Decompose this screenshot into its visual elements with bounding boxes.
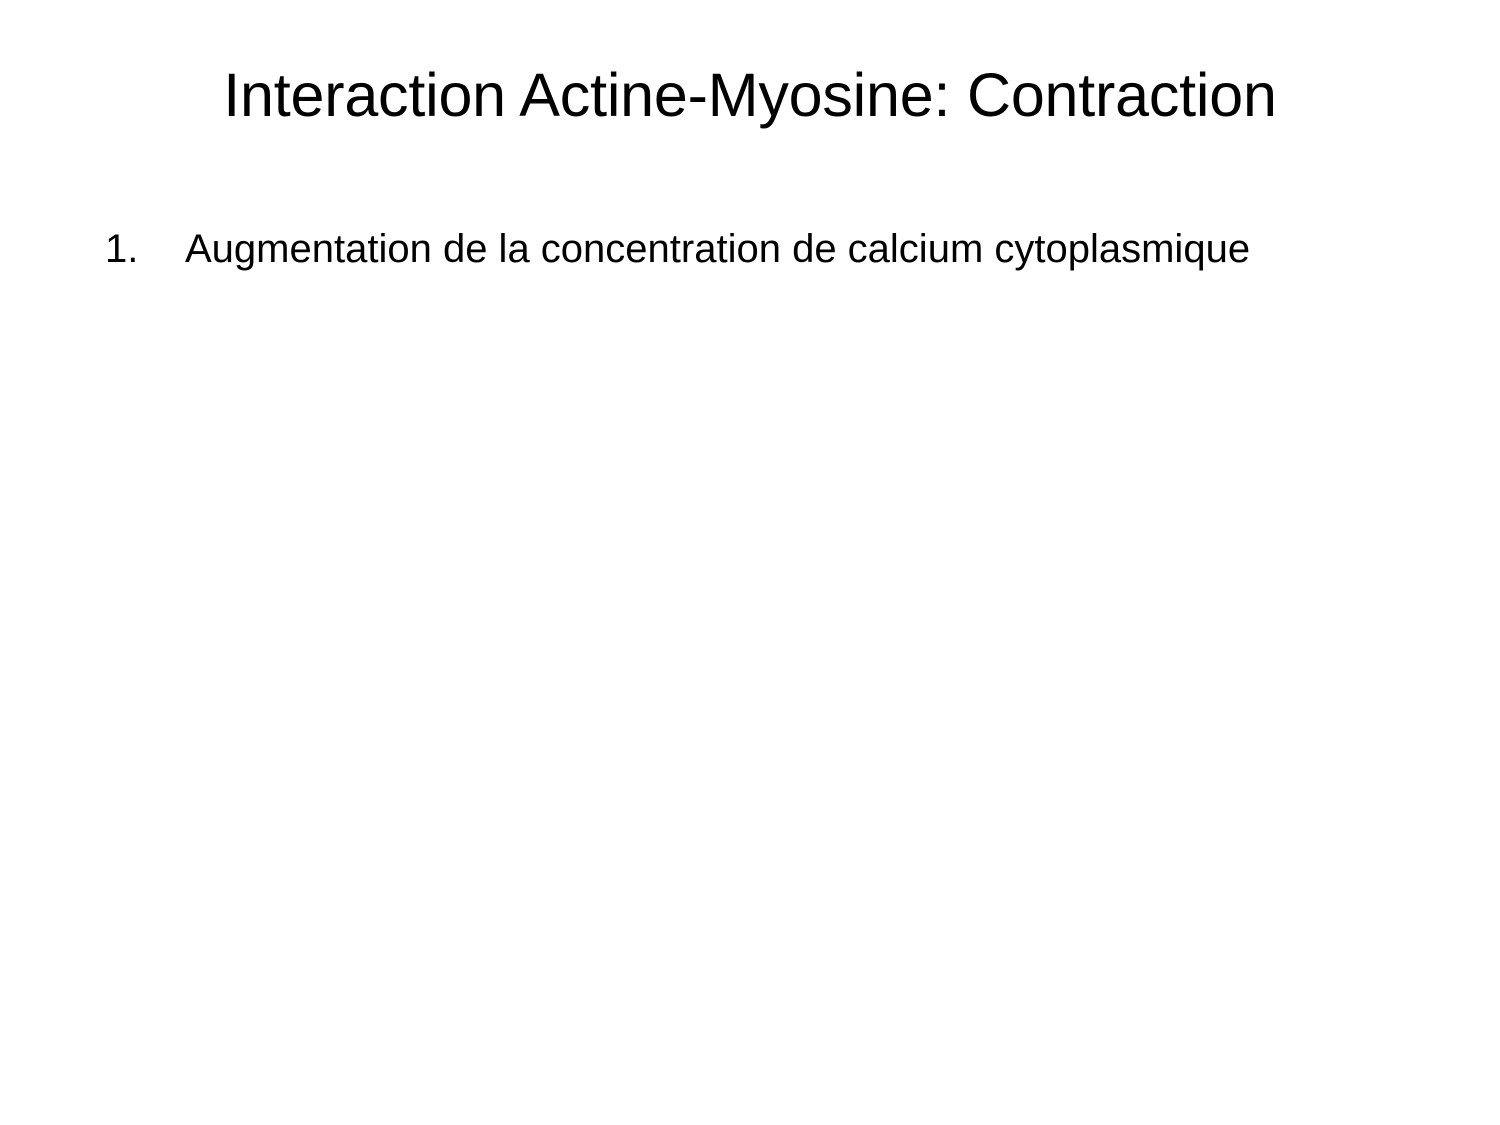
slide-body-placeholder: 1. Augmentation de la concentration de c… [97,225,1403,1055]
list-item: 1. Augmentation de la concentration de c… [97,225,1403,274]
list-item-label: Augmentation de la concentration de calc… [185,227,1250,271]
slide-title: Interaction Actine-Myosine: Contraction [223,63,1276,127]
list-item-marker: 1. [105,225,173,274]
slide-title-placeholder: Interaction Actine-Myosine: Contraction [112,40,1388,150]
slide: Interaction Actine-Myosine: Contraction … [0,0,1500,1125]
numbered-list: 1. Augmentation de la concentration de c… [97,225,1403,274]
